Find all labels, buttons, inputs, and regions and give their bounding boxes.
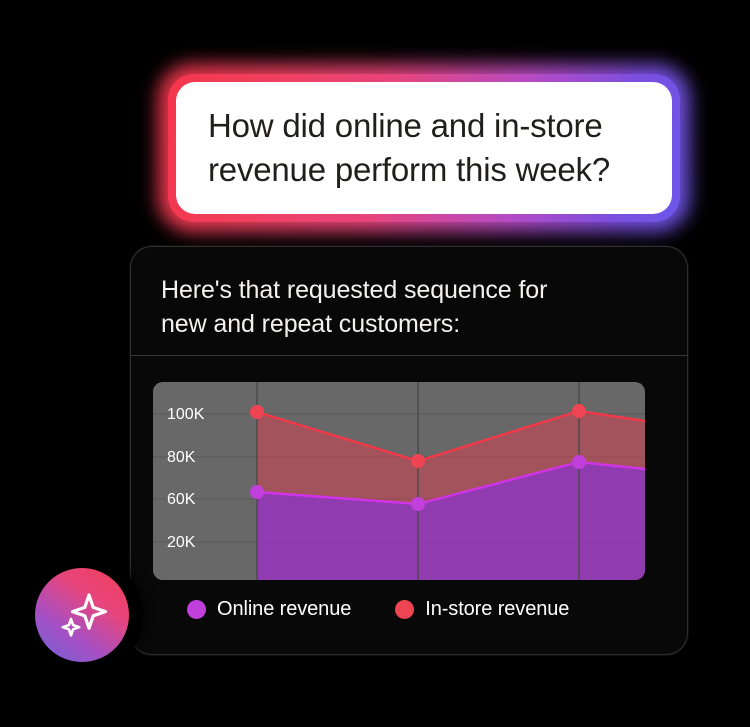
assistant-avatar[interactable] [26,559,138,671]
legend-item-instore[interactable]: In-store revenue [395,598,569,621]
question-bubble: How did online and in-store revenue perf… [168,74,680,222]
question-bubble-inner: How did online and in-store revenue perf… [176,82,672,214]
chart-plot-area: 100K 80K 60K 20K [153,382,645,580]
screenshot-root: How did online and in-store revenue perf… [0,0,750,727]
chart-container: 100K 80K 60K 20K Online revenue In-store… [131,356,687,621]
y-tick-label: 20K [167,534,196,551]
answer-card: Here's that requested sequence for new a… [130,246,688,655]
legend-dot-online-icon [187,600,206,619]
y-tick-label: 80K [167,449,196,466]
avatar [35,568,129,662]
revenue-area-chart: 100K 80K 60K 20K [153,382,645,580]
answer-text: Here's that requested sequence for new a… [161,273,657,341]
legend-item-online[interactable]: Online revenue [187,598,351,621]
y-tick-label: 60K [167,491,196,508]
answer-header: Here's that requested sequence for new a… [131,247,687,341]
legend-label-online: Online revenue [217,598,351,621]
y-tick-label: 100K [167,406,205,423]
legend-dot-instore-icon [395,600,414,619]
sparkle-icon [54,587,110,643]
question-text: How did online and in-store revenue perf… [208,104,610,191]
legend-label-instore: In-store revenue [425,598,569,621]
chart-legend: Online revenue In-store revenue [153,580,665,621]
